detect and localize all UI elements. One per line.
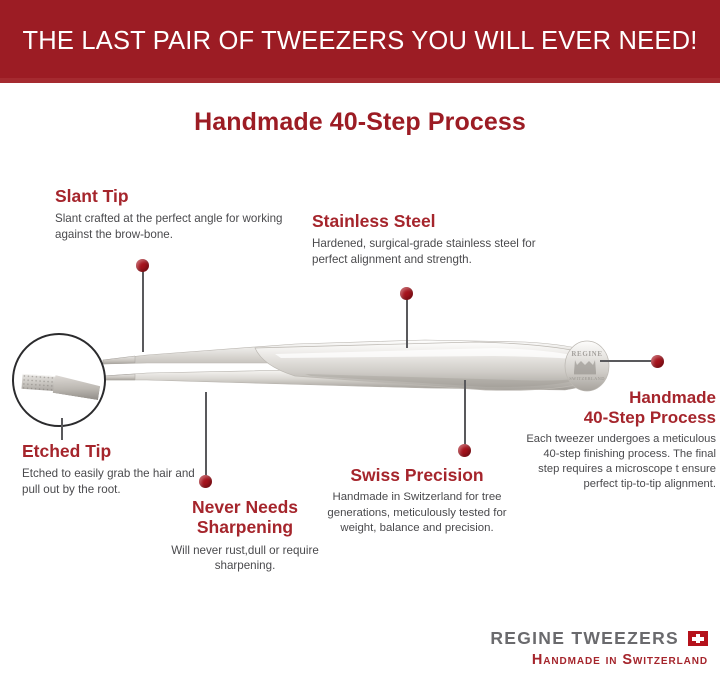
callout-never-needs-sharpening: Never Needs Sharpening Will never rust,d… [160, 497, 330, 574]
leader-line-slant-tip [142, 270, 144, 352]
footer-brand-row: REGINE TWEEZERS [430, 628, 708, 649]
svg-text:SWITZERLAND: SWITZERLAND [569, 376, 605, 381]
leader-dot-stainless [400, 287, 413, 300]
leader-dot-handmade [651, 355, 664, 368]
callout-etched-tip: Etched Tip Etched to easily grab the hai… [22, 441, 202, 497]
callout-body-stainless-steel: Hardened, surgical-grade stainless steel… [312, 236, 562, 267]
callout-title-line1: Handmade [629, 388, 716, 407]
callout-title-stainless-steel: Stainless Steel [312, 211, 562, 231]
page-title: Handmade 40-Step Process [0, 108, 720, 137]
header-banner-underline [0, 78, 720, 83]
callout-title-swiss-precision: Swiss Precision [312, 465, 522, 485]
footer-brand-name: REGINE TWEEZERS [490, 628, 679, 649]
swiss-flag-icon [688, 631, 708, 646]
etched-tip-surface [22, 374, 57, 391]
callout-title-handmade-40-step: Handmade 40-Step Process [520, 388, 716, 427]
leader-line-stainless [406, 298, 408, 348]
callout-body-slant-tip: Slant crafted at the perfect angle for w… [55, 211, 295, 242]
footer-tagline: Handmade in Switzerland [430, 652, 708, 668]
callout-title-line2: 40-Step Process [584, 408, 716, 427]
callout-body-handmade-40-step: Each tweezer undergoes a meticulous 40-s… [520, 432, 716, 492]
leader-line-swiss [464, 380, 466, 448]
leader-line-etched-tip [61, 418, 63, 440]
callout-handmade-40-step: Handmade 40-Step Process Each tweezer un… [520, 388, 716, 492]
leader-line-never-sharpen [205, 392, 207, 478]
callout-stainless-steel: Stainless Steel Hardened, surgical-grade… [312, 211, 562, 267]
footer-logo: REGINE TWEEZERS Handmade in Switzerland [430, 628, 708, 668]
svg-text:REGINE: REGINE [571, 350, 602, 358]
callout-slant-tip: Slant Tip Slant crafted at the perfect a… [55, 186, 295, 242]
tweezer-tip-shaft [53, 375, 101, 400]
callout-body-swiss-precision: Handmade in Switzerland for tree generat… [312, 490, 522, 536]
etched-tip-magnifier [12, 333, 106, 427]
leader-line-handmade [600, 360, 654, 362]
callout-body-etched-tip: Etched to easily grab the hair and pull … [22, 466, 202, 497]
callout-title-never-needs-sharpening: Never Needs Sharpening [160, 497, 330, 538]
header-headline: THE LAST PAIR OF TWEEZERS YOU WILL EVER … [0, 27, 720, 56]
callout-title-line2: Sharpening [197, 517, 293, 537]
callout-title-etched-tip: Etched Tip [22, 441, 202, 461]
leader-dot-slant-tip [136, 259, 149, 272]
leader-dot-swiss [458, 444, 471, 457]
callout-swiss-precision: Swiss Precision Handmade in Switzerland … [312, 465, 522, 536]
callout-title-slant-tip: Slant Tip [55, 186, 295, 206]
callout-body-never-needs-sharpening: Will never rust,dull or require sharpeni… [160, 543, 330, 574]
callout-title-line1: Never Needs [192, 497, 298, 517]
